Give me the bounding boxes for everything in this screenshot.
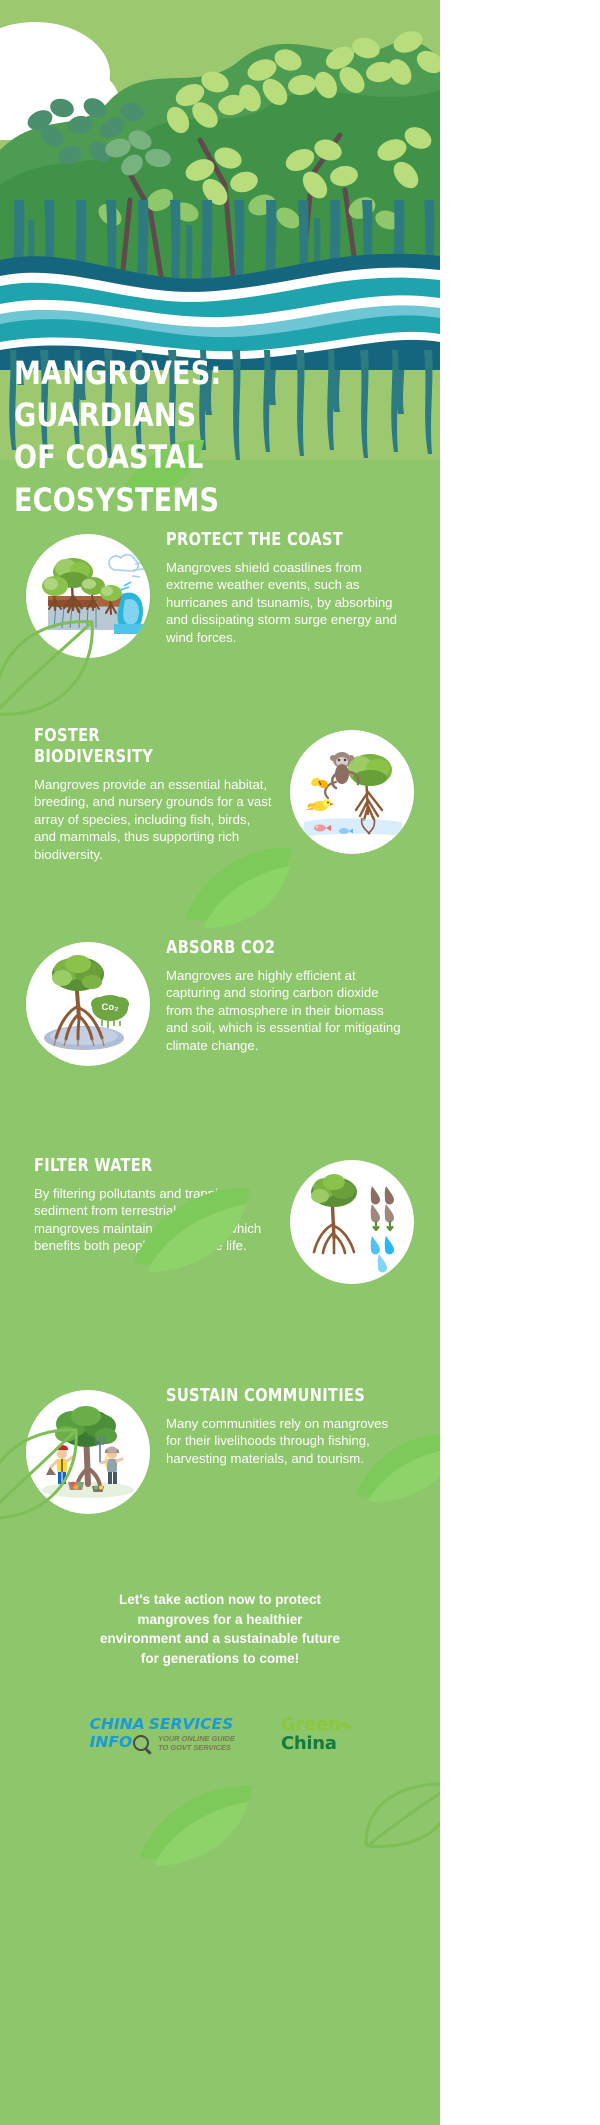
logo-word-china: China: [281, 1735, 350, 1753]
section-heading: FOSTER BIODIVERSITY: [34, 726, 257, 768]
green-china-logo[interactable]: Green China: [281, 1716, 350, 1753]
heading-line-2: BIODIVERSITY: [34, 747, 153, 767]
mangrove-water-filter-droplets-icon: [290, 1160, 414, 1284]
section-heading: ABSORB CO2: [166, 938, 389, 959]
section-filter-water: FILTER WATER By filtering pollutants and…: [0, 1156, 440, 1326]
cta-line-3: environment and a sustainable future: [100, 1631, 340, 1646]
section-protect-the-coast: PROTECT THE COAST Mangroves shield coast…: [0, 530, 440, 700]
tagline-line-2: TO GOVT SERVICES: [158, 1743, 231, 1752]
logo-word-china: CHINA: [90, 1717, 145, 1733]
benefits-list: PROTECT THE COAST Mangroves shield coast…: [0, 460, 440, 1556]
section-body: Mangroves are highly efficient at captur…: [166, 967, 406, 1054]
logo-word-green: Green: [281, 1714, 340, 1735]
mangrove-co2-absorption-icon: Co₂: [26, 942, 150, 1066]
tagline-line-1: YOUR ONLINE GUIDE: [158, 1734, 235, 1743]
logo-word-info: INFO: [90, 1735, 133, 1751]
title-line-1: MANGROVES: GUARDIANS: [14, 354, 221, 434]
section-heading: PROTECT THE COAST: [166, 530, 389, 551]
section-heading: SUSTAIN COMMUNITIES: [166, 1386, 389, 1407]
cta-line-2: mangroves for a healthier: [137, 1612, 302, 1627]
leaf-outline-icon: [360, 1776, 440, 1856]
infographic-poster: MANGROVES: GUARDIANS OF COASTAL ECOSYSTE…: [0, 0, 440, 2125]
section-foster-biodiversity: FOSTER BIODIVERSITY Mangroves provide an…: [0, 726, 440, 896]
leaf-icon: [340, 1720, 352, 1732]
svg-text:Co₂: Co₂: [102, 1002, 119, 1013]
cta-line-4: for generations to come!: [141, 1651, 299, 1666]
leaf-icon: [134, 1778, 259, 1868]
mangrove-wildlife-monkey-icon: [290, 730, 414, 854]
section-body: Many communities rely on mangroves for t…: [166, 1415, 406, 1467]
mangrove-coast-wave-icon: [26, 534, 150, 658]
section-body: Mangroves shield coastlines from extreme…: [166, 559, 406, 646]
call-to-action: Let's take action now to protect mangrov…: [0, 1556, 440, 1668]
section-heading: FILTER WATER: [34, 1156, 257, 1177]
section-absorb-co2: Co₂ ABSORB CO2 Mangroves are highly effi…: [0, 938, 440, 1108]
logo-word-services: SERVICES: [149, 1717, 234, 1733]
footer-logos: CHINA SERVICES INFO YOUR ONLINE GUIDE TO…: [0, 1668, 440, 1753]
heading-line-1: FOSTER: [34, 726, 100, 746]
logo-tagline: YOUR ONLINE GUIDE TO GOVT SERVICES: [158, 1734, 235, 1752]
title-line-2: OF COASTAL ECOSYSTEMS: [14, 438, 219, 518]
poster-title: MANGROVES: GUARDIANS OF COASTAL ECOSYSTE…: [0, 352, 440, 521]
china-services-info-logo[interactable]: CHINA SERVICES INFO YOUR ONLINE GUIDE TO…: [90, 1717, 235, 1752]
cta-line-1: Let's take action now to protect: [119, 1592, 321, 1607]
magnifier-icon: [133, 1735, 149, 1751]
mangrove-community-people-icon: [26, 1390, 150, 1514]
section-body: Mangroves provide an essential habitat, …: [34, 776, 274, 863]
section-body: By filtering pollutants and trapping sed…: [34, 1185, 274, 1255]
section-sustain-communities: SUSTAIN COMMUNITIES Many communities rel…: [0, 1386, 440, 1556]
